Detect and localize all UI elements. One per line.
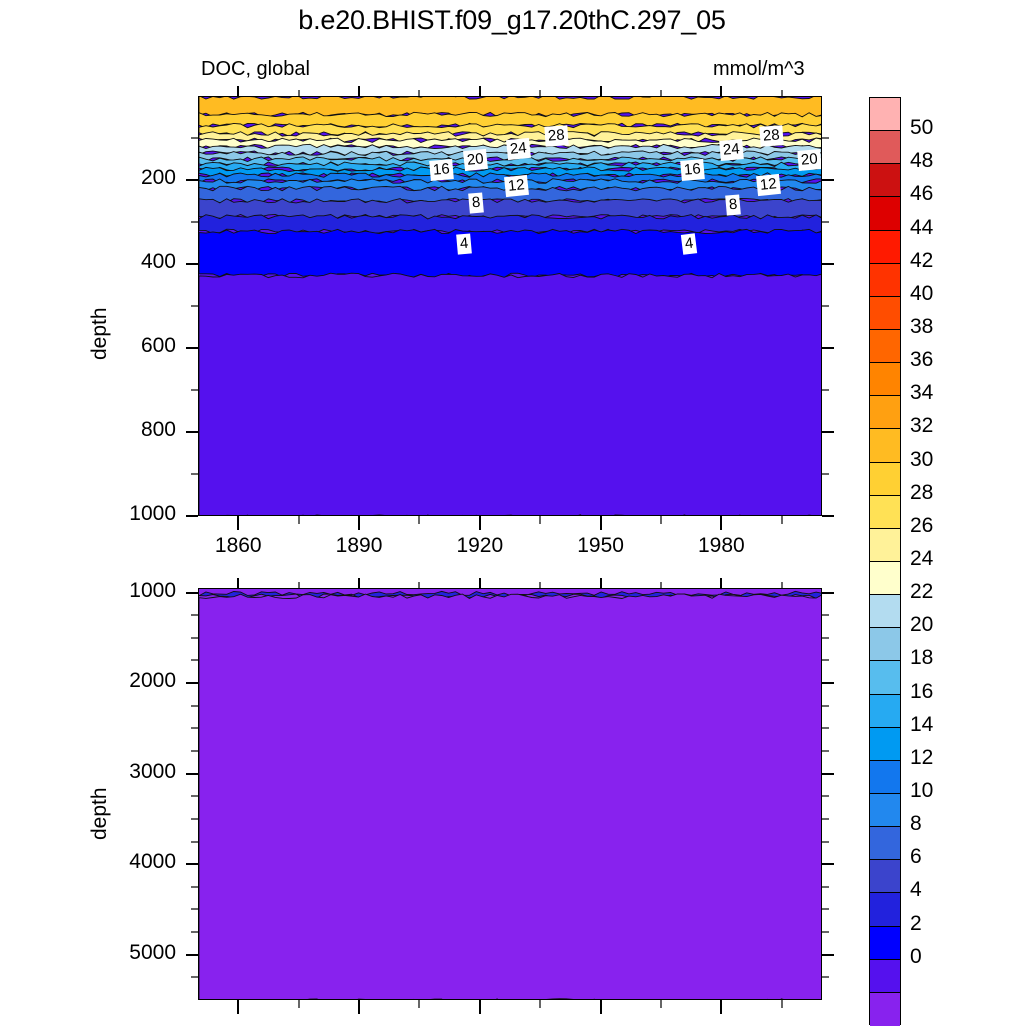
x-tick-minor: [781, 1000, 783, 1008]
y-tick-right: [822, 592, 834, 594]
x-tick-major-top: [479, 578, 481, 588]
x-tick-major: [479, 1000, 481, 1014]
x-tick-minor-top: [418, 90, 420, 96]
colorbar-cell: [870, 197, 900, 230]
x-tick-major-top: [237, 86, 239, 96]
colorbar-tick-label: 12: [910, 746, 933, 770]
x-tick-major-top: [358, 578, 360, 588]
x-tick-major: [600, 516, 602, 530]
y-tick-right: [822, 389, 829, 391]
y-tick-right: [822, 727, 829, 729]
variable-label: DOC, global: [201, 58, 310, 81]
y-tick: [191, 818, 198, 820]
colorbar-cell: [870, 496, 900, 529]
x-tick-minor: [539, 1000, 541, 1008]
y-tick-right: [822, 705, 829, 707]
colorbar-tick-label: 50: [910, 116, 933, 140]
colorbar-tick-label: 4: [910, 878, 922, 902]
colorbar-cell: [870, 927, 900, 960]
y-axis-title-bottom: depth: [88, 787, 112, 840]
colorbar-tick-label: 48: [910, 149, 933, 173]
y-tick-right: [822, 473, 829, 475]
y-tick: [186, 515, 198, 517]
colorbar-cell: [870, 297, 900, 330]
x-tick-major-top: [237, 578, 239, 588]
colorbar-tick-label: 46: [910, 182, 933, 206]
x-tick-minor-top: [298, 582, 300, 588]
y-tick: [186, 263, 198, 265]
x-tick-minor: [298, 516, 300, 524]
x-tick-label: 1890: [309, 534, 409, 558]
y-tick-right: [822, 305, 829, 307]
contour-label: 8: [468, 192, 484, 213]
y-tick-right: [822, 750, 829, 752]
colorbar-tick-label: 14: [910, 713, 933, 737]
y-tick-right: [822, 659, 829, 661]
x-tick-label: 1920: [430, 534, 530, 558]
x-tick-major: [720, 1000, 722, 1014]
x-tick-minor-top: [539, 90, 541, 96]
colorbar-cell: [870, 463, 900, 496]
y-tick: [186, 682, 198, 684]
y-tick: [186, 863, 198, 865]
y-tick: [186, 431, 198, 433]
contour-label: 8: [725, 194, 741, 215]
x-tick-minor: [781, 516, 783, 524]
y-tick-right: [822, 637, 829, 639]
x-tick-major-top: [600, 86, 602, 96]
x-tick-major: [720, 516, 722, 530]
colorbar-tick-label: 22: [910, 580, 933, 604]
contour-label: 4: [456, 233, 472, 254]
y-tick: [191, 931, 198, 933]
x-tick-minor: [418, 1000, 420, 1008]
x-tick-major: [237, 516, 239, 530]
y-tick: [186, 773, 198, 775]
y-tick-label: 2000: [68, 669, 176, 693]
contour-label: 12: [504, 175, 529, 197]
colorbar-tick-label: 8: [910, 812, 922, 836]
y-tick: [191, 886, 198, 888]
colorbar-cell: [870, 993, 900, 1026]
x-tick-major: [237, 1000, 239, 1014]
contour-label: 16: [429, 159, 453, 181]
contour-label: 28: [759, 125, 783, 147]
y-tick: [191, 614, 198, 616]
y-tick-right: [822, 431, 834, 433]
colorbar-tick-label: 10: [910, 779, 933, 803]
y-tick: [191, 305, 198, 307]
x-tick-minor-top: [539, 582, 541, 588]
colorbar-tick-label: 36: [910, 348, 933, 372]
colorbar-cell: [870, 131, 900, 164]
colorbar-cell: [870, 529, 900, 562]
colorbar-tick-label: 6: [910, 845, 922, 869]
figure-root: b.e20.BHIST.f09_g17.20thC.297_05 DOC, gl…: [0, 0, 1024, 1024]
x-tick-major-top: [479, 86, 481, 96]
colorbar-tick-label: 24: [910, 547, 933, 571]
colorbar-tick-label: 20: [910, 613, 933, 637]
x-tick-major-top: [720, 86, 722, 96]
x-tick-minor-top: [660, 582, 662, 588]
y-tick-right: [822, 179, 834, 181]
colorbar-tick-label: 44: [910, 216, 933, 240]
y-tick: [191, 473, 198, 475]
colorbar-tick-label: 38: [910, 315, 933, 339]
y-tick: [191, 750, 198, 752]
x-tick-major: [479, 516, 481, 530]
y-tick-right: [822, 221, 829, 223]
y-tick: [191, 841, 198, 843]
y-tick: [186, 592, 198, 594]
contour-panel-lower: [198, 588, 822, 1000]
y-tick-right: [822, 682, 834, 684]
y-tick-label: 4000: [68, 850, 176, 874]
colorbar-tick-label: 16: [910, 680, 933, 704]
y-tick-right: [822, 863, 834, 865]
y-tick-right: [822, 818, 829, 820]
y-tick: [191, 659, 198, 661]
x-tick-minor-top: [781, 90, 783, 96]
y-tick: [191, 908, 198, 910]
colorbar-cell: [870, 960, 900, 993]
y-tick-right: [822, 614, 829, 616]
contour-label: 24: [506, 138, 531, 160]
y-tick: [191, 637, 198, 639]
colorbar-cell: [870, 562, 900, 595]
colorbar-cell: [870, 164, 900, 197]
y-tick: [186, 179, 198, 181]
colorbar-tick-label: 28: [910, 481, 933, 505]
y-tick-right: [822, 137, 829, 139]
colorbar-cell: [870, 893, 900, 926]
x-tick-minor: [660, 1000, 662, 1008]
colorbar-tick-label: 30: [910, 448, 933, 472]
x-tick-minor-top: [660, 90, 662, 96]
colorbar-cell: [870, 695, 900, 728]
y-tick-right: [822, 841, 829, 843]
x-tick-minor: [298, 1000, 300, 1008]
contour-label: 20: [463, 149, 488, 171]
y-tick-right: [822, 908, 829, 910]
colorbar-tick-label: 26: [910, 514, 933, 538]
colorbar[interactable]: [869, 97, 901, 1025]
x-tick-major: [358, 516, 360, 530]
y-tick-right: [822, 795, 829, 797]
x-tick-major: [600, 1000, 602, 1014]
x-tick-minor-top: [298, 90, 300, 96]
y-tick-right: [822, 773, 834, 775]
colorbar-cell: [870, 330, 900, 363]
y-tick: [186, 954, 198, 956]
colorbar-cell: [870, 794, 900, 827]
y-tick-right: [822, 515, 834, 517]
x-tick-label: 1860: [188, 534, 288, 558]
contour-panel-upper: 282420161284282420161284: [198, 96, 822, 516]
contour-label: 28: [544, 125, 568, 147]
y-tick-label: 800: [68, 418, 176, 442]
y-tick-label: 200: [68, 166, 176, 190]
y-tick-label: 5000: [68, 941, 176, 965]
y-tick-label: 1000: [68, 579, 176, 603]
y-tick: [191, 705, 198, 707]
y-tick: [191, 389, 198, 391]
y-tick: [186, 347, 198, 349]
y-tick: [191, 976, 198, 978]
x-tick-minor: [418, 516, 420, 524]
y-tick: [191, 727, 198, 729]
y-tick-right: [822, 976, 829, 978]
x-tick-minor: [660, 516, 662, 524]
figure-title: b.e20.BHIST.f09_g17.20thC.297_05: [0, 5, 1024, 36]
colorbar-tick-label: 2: [910, 912, 922, 936]
y-tick-right: [822, 931, 829, 933]
x-tick-major-top: [720, 578, 722, 588]
contour-label: 4: [681, 233, 698, 255]
y-tick-label: 1000: [68, 502, 176, 526]
units-label: mmol/m^3: [713, 58, 805, 81]
contour-label: 20: [797, 149, 821, 171]
y-tick: [191, 795, 198, 797]
colorbar-cell: [870, 628, 900, 661]
contour-label: 16: [680, 159, 704, 181]
y-tick-right: [822, 886, 829, 888]
x-tick-major: [358, 1000, 360, 1014]
x-tick-label: 1980: [671, 534, 771, 558]
y-tick-label: 3000: [68, 760, 176, 784]
colorbar-cell: [870, 827, 900, 860]
colorbar-tick-label: 40: [910, 282, 933, 306]
colorbar-tick-label: 32: [910, 414, 933, 438]
colorbar-tick-label: 42: [910, 249, 933, 273]
colorbar-cell: [870, 761, 900, 794]
colorbar-cell: [870, 429, 900, 462]
colorbar-cell: [870, 396, 900, 429]
colorbar-cell: [870, 595, 900, 628]
x-tick-minor-top: [781, 582, 783, 588]
y-tick-right: [822, 347, 834, 349]
colorbar-tick-label: 18: [910, 646, 933, 670]
colorbar-cell: [870, 363, 900, 396]
y-tick-label: 600: [68, 334, 176, 358]
colorbar-cell: [870, 661, 900, 694]
y-tick-right: [822, 263, 834, 265]
colorbar-cell: [870, 860, 900, 893]
y-tick: [191, 221, 198, 223]
contour-label: 12: [756, 174, 781, 196]
colorbar-cell: [870, 264, 900, 297]
x-tick-major-top: [600, 578, 602, 588]
y-tick-label: 400: [68, 250, 176, 274]
colorbar-tick-label: 34: [910, 381, 933, 405]
x-tick-minor: [539, 516, 541, 524]
colorbar-cell: [870, 728, 900, 761]
y-tick-right: [822, 954, 834, 956]
y-tick: [191, 137, 198, 139]
x-tick-label: 1950: [551, 534, 651, 558]
contour-label: 24: [719, 139, 743, 161]
colorbar-cell: [870, 98, 900, 131]
colorbar-tick-label: 0: [910, 945, 922, 969]
x-tick-minor-top: [418, 582, 420, 588]
colorbar-cell: [870, 231, 900, 264]
x-tick-major-top: [358, 86, 360, 96]
